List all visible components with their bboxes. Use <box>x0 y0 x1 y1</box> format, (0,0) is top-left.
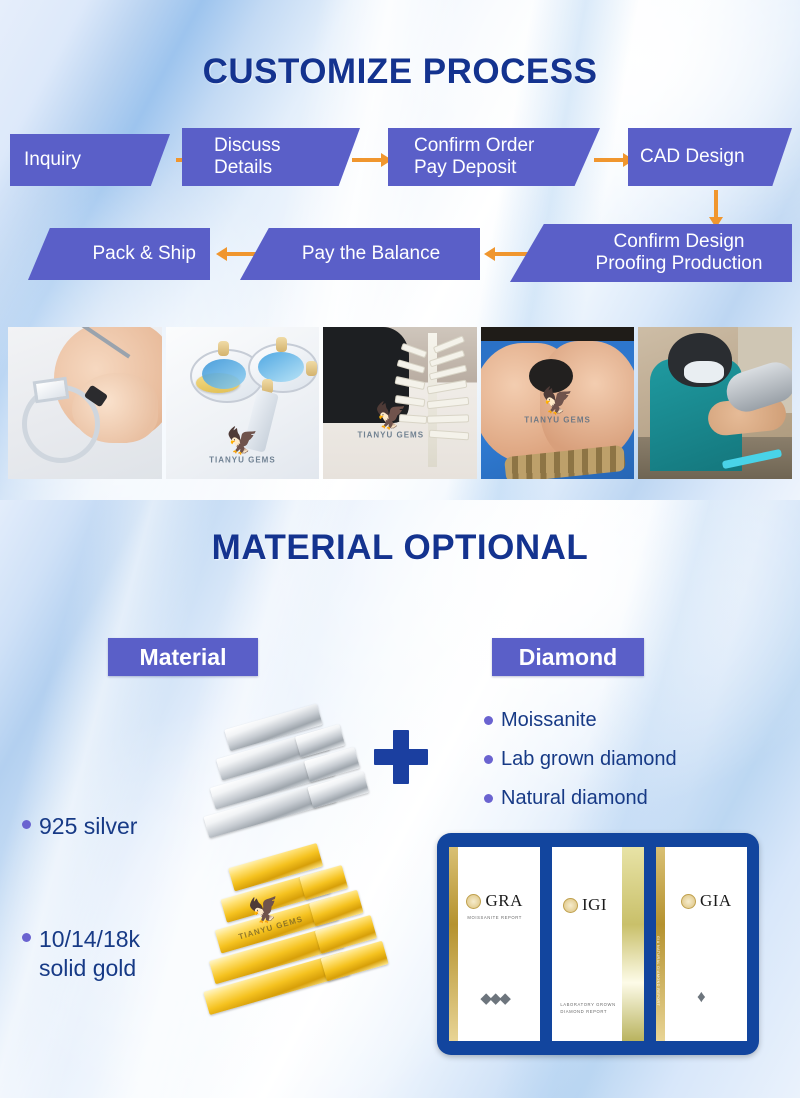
certificate-brand: IGI <box>582 895 607 915</box>
certificate-brand: GRA <box>485 891 522 911</box>
seal-icon <box>466 894 481 909</box>
arrow-discuss-to-confirm <box>352 155 392 165</box>
process-step-inquiry[interactable]: Inquiry <box>10 134 170 186</box>
arrow-cad-to-confirm-design <box>711 190 721 228</box>
photo-hand-sketching-ring <box>8 327 162 479</box>
process-step-pack-ship-label: Pack & Ship <box>89 243 201 265</box>
certificate-subtitle: LABORATORY GROWN DIAMOND REPORT <box>560 1002 615 1015</box>
seal-icon <box>563 898 578 913</box>
resin-tree <box>375 331 471 471</box>
cert-photo-edge <box>622 847 644 1041</box>
igi-logo: IGI <box>563 895 607 915</box>
metal-bars-illustration: 🦅 TIANYU GEMS <box>190 700 390 1030</box>
process-photo-strip: 🦅 TIANYU GEMS 🦅 <box>8 327 792 479</box>
watermark-text: TIANYU GEMS <box>209 455 276 464</box>
arrow-confirm-design-to-balance <box>484 249 528 259</box>
diamond-options-list: Moissanite Lab grown diamond Natural dia… <box>484 708 784 811</box>
process-step-discuss-line1: Discuss <box>210 135 285 157</box>
poster-page: CUSTOMIZE PROCESS Inquiry Discuss Detail… <box>0 0 800 1098</box>
process-step-confirm-design-line1: Confirm Design <box>610 231 749 253</box>
list-item: Moissanite <box>484 708 784 733</box>
material-option-label-line1: 10/14/18k <box>39 926 140 952</box>
certificate-brand: GIA <box>700 891 732 911</box>
gem-diagram-icon: ♦ <box>697 987 706 1007</box>
process-step-confirm-order-line1: Confirm Order <box>410 135 538 157</box>
process-step-confirm-order-line2: Pay Deposit <box>410 157 520 179</box>
diamond-option-label: Moissanite <box>501 708 597 733</box>
list-item: Lab grown diamond <box>484 747 784 772</box>
list-item: Natural diamond <box>484 786 784 811</box>
photo-stone-setting-hands: 🦅 TIANYU GEMS <box>481 327 635 479</box>
diamond-tag-label: Diamond <box>519 644 617 671</box>
seal-icon <box>681 894 696 909</box>
material-tag-label: Material <box>140 644 227 671</box>
process-step-inquiry-label: Inquiry <box>20 149 85 171</box>
certificate-gia: GIA NATURAL DIAMOND REPORT GIA ♦ <box>656 847 747 1041</box>
cert-spine <box>449 847 458 1041</box>
diamond-tag: Diamond <box>492 638 644 676</box>
photo-resin-3d-print-tree: 🦅 TIANYU GEMS <box>323 327 477 479</box>
process-step-confirm-design-line2: Proofing Production <box>592 253 767 275</box>
diamond-option-label: Lab grown diamond <box>501 747 677 772</box>
process-step-discuss-details[interactable]: Discuss Details <box>182 128 360 186</box>
process-step-confirm-design[interactable]: Confirm Design Proofing Production <box>510 224 792 282</box>
certificate-subtitle: MOISSANITE REPORT <box>467 915 522 921</box>
process-step-cad-design-label: CAD Design <box>636 146 749 168</box>
certificates-panel: GRA MOISSANITE REPORT ◆◆◆ IGI LABORATORY… <box>437 833 759 1055</box>
certificate-igi: IGI LABORATORY GROWN DIAMOND REPORT <box>552 847 643 1041</box>
process-flow-diagram: Inquiry Discuss Details Confirm Order Pa… <box>0 0 800 300</box>
process-step-confirm-order[interactable]: Confirm Order Pay Deposit <box>388 128 600 186</box>
material-option-label-line2: solid gold <box>39 955 136 981</box>
bullet-dot-icon <box>484 794 493 803</box>
gia-logo: GIA <box>681 891 732 911</box>
process-step-pack-ship[interactable]: Pack & Ship <box>28 228 210 280</box>
bullet-dot-icon <box>484 755 493 764</box>
diamond-option-label: Natural diamond <box>501 786 648 811</box>
bullet-dot-icon <box>22 820 31 829</box>
gem-diagram-icon: ◆◆◆ <box>480 989 509 1007</box>
certificate-vertical-text: GIA NATURAL DIAMOND REPORT <box>656 936 660 1006</box>
process-step-cad-design[interactable]: CAD Design <box>628 128 792 186</box>
material-optional-title: MATERIAL OPTIONAL <box>0 528 800 568</box>
material-tag: Material <box>108 638 258 676</box>
gold-bars: 🦅 TIANYU GEMS <box>157 825 408 1056</box>
material-option-label: 925 silver <box>39 812 137 841</box>
process-step-pay-balance[interactable]: Pay the Balance <box>240 228 480 280</box>
gra-logo: GRA <box>466 891 522 911</box>
arrow-balance-to-pack <box>216 249 258 259</box>
photo-jeweller-at-bench <box>638 327 792 479</box>
photo-cad-design-render: 🦅 TIANYU GEMS <box>166 327 320 479</box>
bullet-dot-icon <box>22 933 31 942</box>
certificate-gra: GRA MOISSANITE REPORT ◆◆◆ <box>449 847 540 1041</box>
bullet-dot-icon <box>484 716 493 725</box>
process-step-discuss-line2: Details <box>210 157 276 179</box>
process-step-pay-balance-label: Pay the Balance <box>298 243 444 265</box>
